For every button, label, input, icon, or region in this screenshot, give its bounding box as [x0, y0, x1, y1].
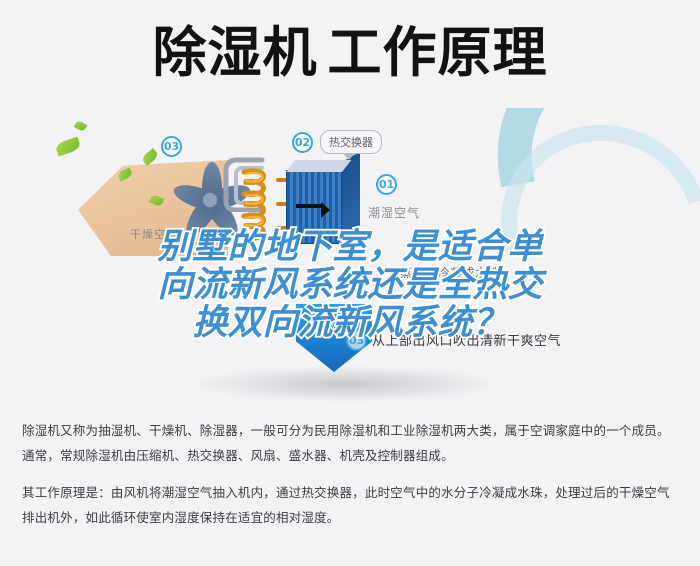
overlay-headline-line-2: 向流新风系统还是全热交 — [0, 266, 700, 304]
overlay-headline-line-1: 别墅的地下室，是适合单 — [0, 228, 700, 266]
body-paragraph-1: 除湿机又称为抽湿机、干燥机、除湿器，一般可分为民用除湿机和工业除湿机两大类，属于… — [22, 418, 682, 468]
ground-shadow — [196, 366, 496, 402]
badge-02-heat-exchanger: 02 — [292, 132, 313, 153]
badge-01-wet-air: 01 — [376, 174, 397, 195]
overlay-headline: 别墅的地下室，是适合单 向流新风系统还是全热交 换双向流新风系统？ — [0, 228, 700, 342]
leaf-icon — [55, 137, 82, 157]
page-title-part-a: 除湿机 — [153, 21, 318, 84]
badge-03-dry-air: 03 — [161, 136, 182, 157]
heat-exchanger-top — [286, 160, 351, 172]
leaf-icon — [74, 120, 88, 132]
article-body: 除湿机又称为抽湿机、干燥机、除湿器，一般可分为民用除湿机和工业除湿机两大类，属于… — [22, 418, 682, 530]
heat-exchanger-callout: 热交换器 — [320, 130, 382, 154]
wet-air-label: 潮湿空气 — [368, 204, 420, 221]
body-paragraph-2: 其工作原理是：由风机将潮湿空气抽入机内，通过热交换器，此时空气中的水分子冷凝成水… — [22, 480, 682, 530]
article-page: 除湿机工作原理 干燥空气 — [0, 0, 700, 566]
page-title: 除湿机工作原理 — [0, 22, 700, 84]
leaf-icon — [141, 148, 160, 166]
airflow-arrow-icon — [296, 204, 322, 208]
page-title-part-b: 工作原理 — [328, 21, 548, 84]
fan-hub — [201, 191, 219, 209]
overlay-headline-line-3: 换双向流新风系统？ — [0, 304, 700, 342]
